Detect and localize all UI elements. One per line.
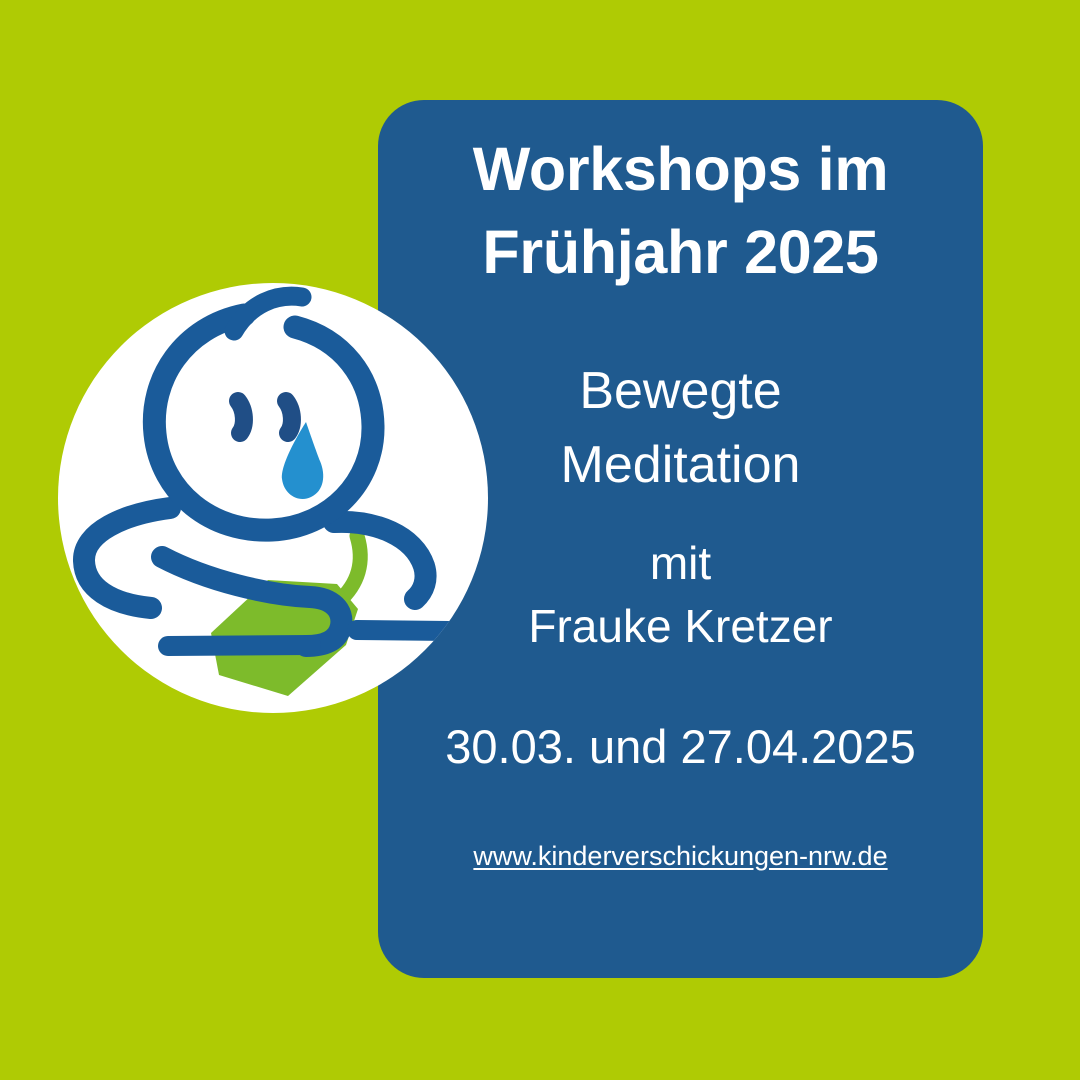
page-title: Workshops im Frühjahr 2025 [400, 128, 961, 294]
left-eye-icon [238, 401, 244, 433]
presenter-block: mit Frauke Kretzer [400, 532, 961, 659]
presenter-name: Frauke Kretzer [400, 595, 961, 658]
workshop-name: Bewegte Meditation [400, 355, 961, 503]
head-outline-shape [154, 315, 373, 530]
poster-canvas: Workshops im Frühjahr 2025 Bewegte Medit… [0, 0, 1080, 1080]
surface-line-left-shape [168, 645, 311, 646]
panel-text-block: Workshops im Frühjahr 2025 Bewegte Medit… [378, 100, 983, 978]
website-link[interactable]: www.kinderverschickungen-nrw.de [400, 840, 961, 872]
event-dates: 30.03. und 27.04.2025 [400, 719, 961, 775]
right-eye-icon [286, 401, 292, 433]
presenter-connector-label: mit [400, 532, 961, 595]
